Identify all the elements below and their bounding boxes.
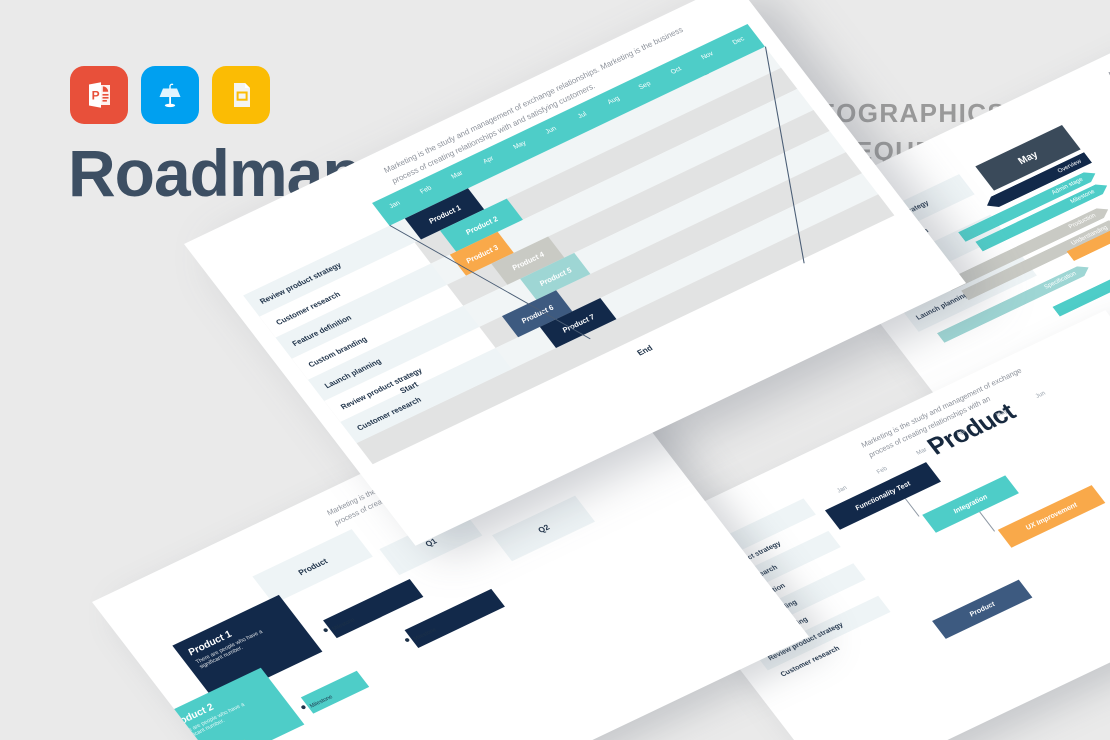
milestone-dot	[323, 628, 329, 633]
google-slides-icon[interactable]	[212, 66, 270, 124]
month-tick: Jun	[1035, 391, 1047, 400]
app-icon-row: P	[70, 66, 270, 124]
milestone-dot	[404, 638, 410, 643]
slide-top-right-subtitle: Marketing is the study process o	[1023, 37, 1110, 130]
month-tick: Mar	[916, 447, 929, 456]
page-canvas: P Roadmap INFOGRAPHICS BY SLIDEQUEST	[0, 0, 1110, 740]
column-header-product: Product	[252, 529, 372, 604]
end-label: End	[635, 344, 654, 358]
month-tick: Feb	[876, 466, 889, 475]
svg-text:P: P	[92, 88, 100, 102]
connector-line	[905, 498, 920, 516]
powerpoint-icon[interactable]: P	[70, 66, 128, 124]
connector-line	[979, 512, 995, 532]
gantt-bar[interactable]: Integration	[922, 475, 1019, 532]
milestone-dot	[300, 705, 306, 710]
month-tick: Jan	[836, 485, 848, 494]
gantt-bar[interactable]: Product	[932, 580, 1032, 639]
keynote-icon[interactable]	[141, 66, 199, 124]
quarter-header-q2: Q2	[492, 496, 595, 562]
